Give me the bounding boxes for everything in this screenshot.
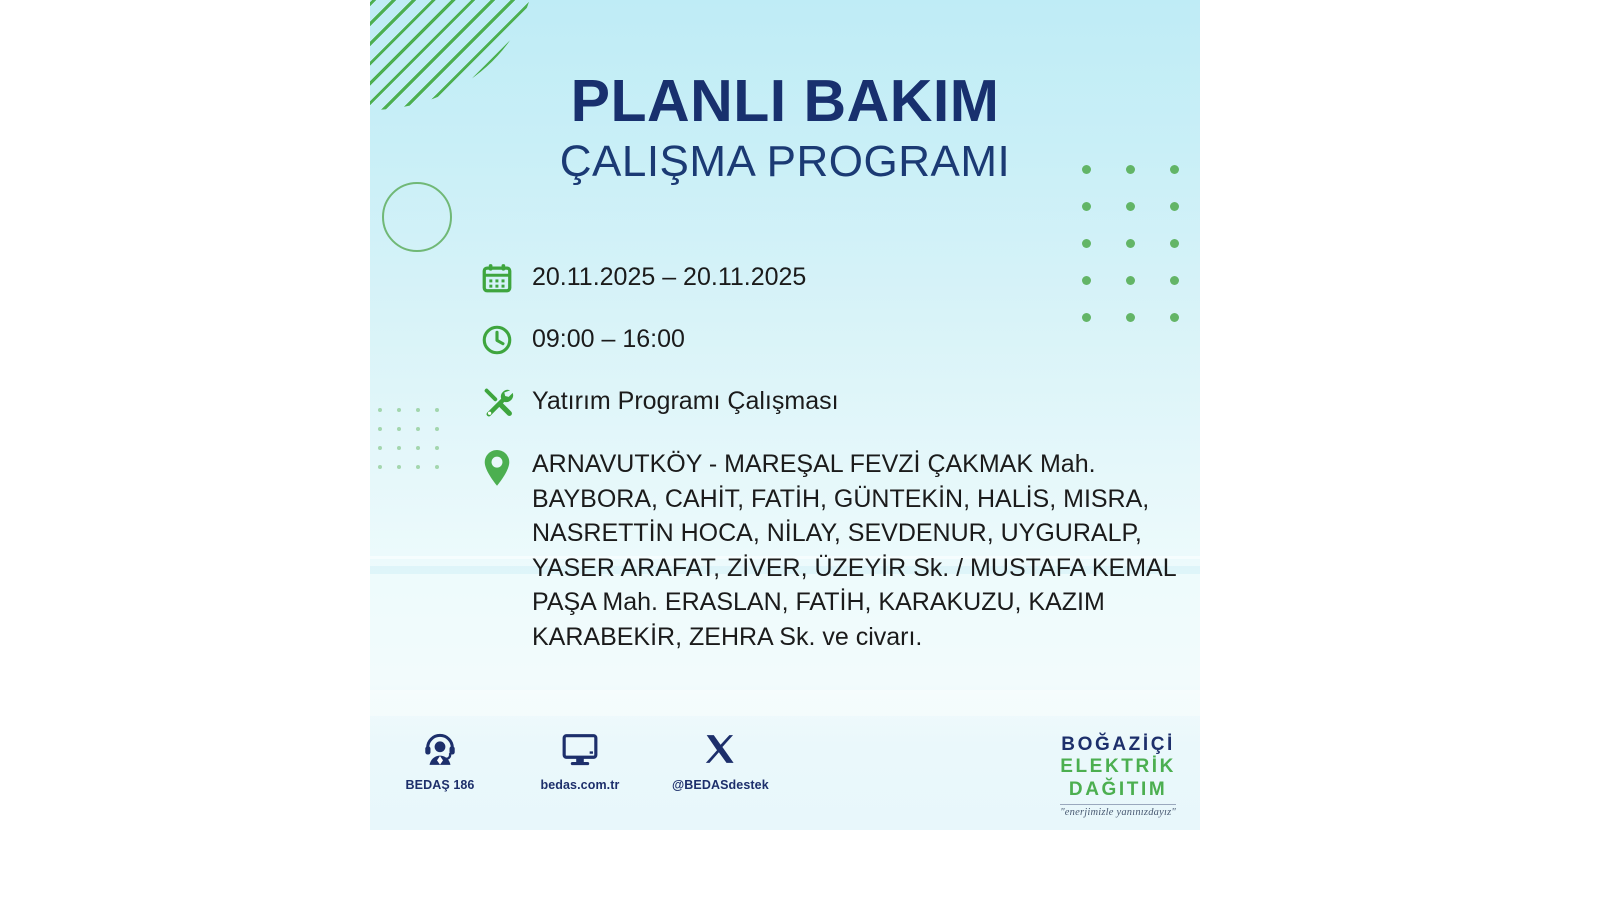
dot-grid-left-decoration xyxy=(378,408,454,484)
address-line: YASER ARAFAT, ZİVER, ÜZEYİR Sk. / MUSTAF… xyxy=(532,554,1177,582)
contact-phone-label: BEDAŞ 186 xyxy=(392,778,488,792)
headset-support-icon xyxy=(392,726,488,772)
brand-line-3: DAĞITIM xyxy=(1060,779,1176,801)
bedas-logo: BOĞAZİÇİ ELEKTRİK DAĞITIM "enerjimizle y… xyxy=(1060,734,1176,818)
maintenance-details: 20.11.2025 – 20.11.2025 09:00 – 16:00 xyxy=(480,258,1180,654)
planned-maintenance-poster: PLANLI BAKIM ÇALIŞMA PROGRAMI 20 xyxy=(370,0,1200,830)
address-text: ARNAVUTKÖY - MAREŞAL FEVZİ ÇAKMAK Mah. B… xyxy=(532,444,1177,654)
detail-row-work-type: Yatırım Programı Çalışması xyxy=(480,382,1180,422)
work-type-text: Yatırım Programı Çalışması xyxy=(532,382,839,418)
background-band-lower xyxy=(370,690,1200,716)
address-line: PAŞA Mah. ERASLAN, FATİH, KARAKUZU, KAZI… xyxy=(532,588,1105,616)
contact-phone[interactable]: BEDAŞ 186 xyxy=(392,726,488,792)
date-range-text: 20.11.2025 – 20.11.2025 xyxy=(532,258,806,294)
address-line: BAYBORA, CAHİT, FATİH, GÜNTEKİN, HALİS, … xyxy=(532,485,1149,513)
contact-social[interactable]: @BEDASdestek xyxy=(672,726,768,792)
page-subtitle: ÇALIŞMA PROGRAMI xyxy=(370,139,1200,185)
address-line: NASRETTİN HOCA, NİLAY, SEVDENUR, UYGURAL… xyxy=(532,519,1142,547)
poster-footer: BEDAŞ 186 bedas.com.tr xyxy=(370,726,1200,830)
detail-row-address: ARNAVUTKÖY - MAREŞAL FEVZİ ÇAKMAK Mah. B… xyxy=(480,444,1180,654)
monitor-website-icon xyxy=(532,726,628,772)
contact-website-label: bedas.com.tr xyxy=(532,778,628,792)
time-range-text: 09:00 – 16:00 xyxy=(532,320,685,356)
address-line: KARABEKİR, ZEHRA Sk. ve civarı. xyxy=(532,623,922,651)
poster-header: PLANLI BAKIM ÇALIŞMA PROGRAMI xyxy=(370,72,1200,185)
detail-row-time: 09:00 – 16:00 xyxy=(480,320,1180,360)
x-twitter-icon xyxy=(672,726,768,772)
map-pin-icon xyxy=(480,444,532,488)
detail-row-date: 20.11.2025 – 20.11.2025 xyxy=(480,258,1180,298)
calendar-icon xyxy=(480,258,532,298)
clock-icon xyxy=(480,320,532,360)
contact-channels: BEDAŞ 186 bedas.com.tr xyxy=(392,726,768,792)
tools-icon xyxy=(480,382,532,422)
contact-website[interactable]: bedas.com.tr xyxy=(532,726,628,792)
brand-divider xyxy=(1060,804,1176,805)
contact-social-label: @BEDASdestek xyxy=(672,778,768,792)
page-title: PLANLI BAKIM xyxy=(370,72,1200,131)
circle-outline-decoration xyxy=(382,182,452,252)
brand-line-2: ELEKTRİK xyxy=(1060,756,1176,778)
brand-tagline: "enerjimizle yanınızdayız" xyxy=(1060,807,1176,818)
address-line: ARNAVUTKÖY - MAREŞAL FEVZİ ÇAKMAK Mah. xyxy=(532,450,1096,478)
brand-line-1: BOĞAZİÇİ xyxy=(1060,734,1176,756)
